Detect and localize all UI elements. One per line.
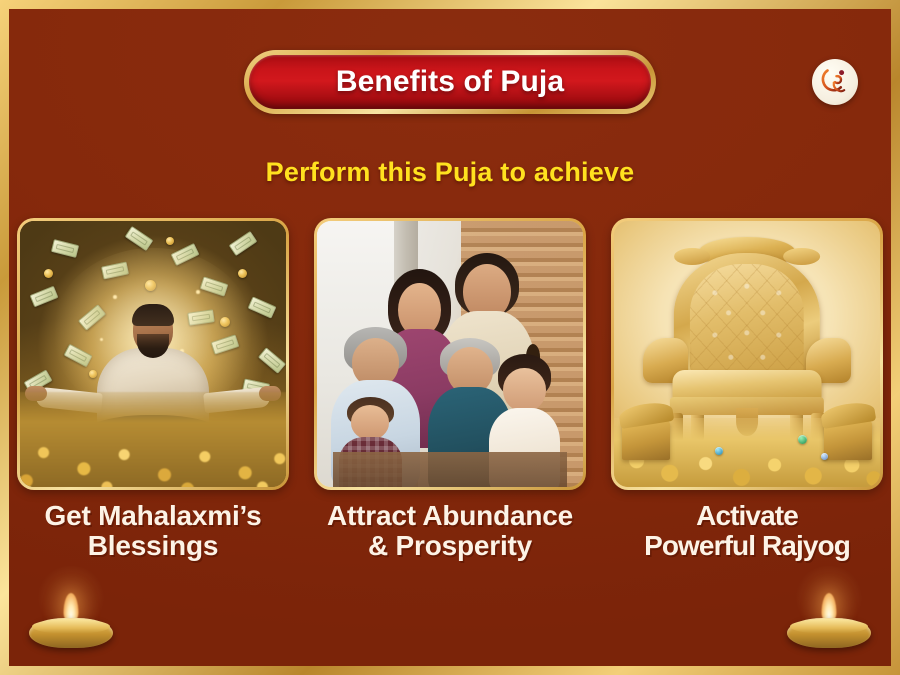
title-banner: Benefits of Puja	[9, 50, 891, 114]
golden-throne-treasure-image	[614, 221, 880, 487]
throne-apron	[670, 397, 824, 416]
meditating-man-money-rain-image	[20, 221, 286, 487]
benefit-card-3[interactable]	[611, 218, 883, 490]
diya-lamp-icon-right	[781, 592, 877, 654]
benefit-caption-1: Get Mahalaxmi’s Blessings	[17, 501, 289, 561]
ganesha-logo-icon[interactable]	[812, 59, 858, 105]
benefit-caption-2: Attract Abundance & Prosperity	[314, 501, 586, 561]
benefit-captions-row: Get Mahalaxmi’s Blessings Attract Abunda…	[9, 501, 891, 561]
benefit-caption-3: Activate Powerful Rajyog	[611, 501, 883, 561]
benefit-cards-row	[9, 218, 891, 490]
multigenerational-family-portrait-image	[317, 221, 583, 487]
treasure-chest-right	[824, 421, 872, 461]
treasure-chest-left	[622, 421, 670, 461]
subtitle-text: Perform this Puja to achieve	[9, 157, 891, 188]
benefit-card-1[interactable]	[17, 218, 289, 490]
throne-tufted-back	[690, 264, 804, 376]
diya-lamp-icon-left	[23, 592, 119, 654]
benefit-card-2[interactable]	[314, 218, 586, 490]
gold-coins-pile	[20, 392, 286, 487]
title-pill: Benefits of Puja	[244, 50, 656, 114]
poster-canvas: Benefits of Puja Perform this Puja	[9, 9, 891, 666]
page-title: Benefits of Puja	[336, 65, 564, 99]
poster-frame: Benefits of Puja Perform this Puja	[0, 0, 900, 675]
title-pill-core: Benefits of Puja	[249, 55, 651, 109]
